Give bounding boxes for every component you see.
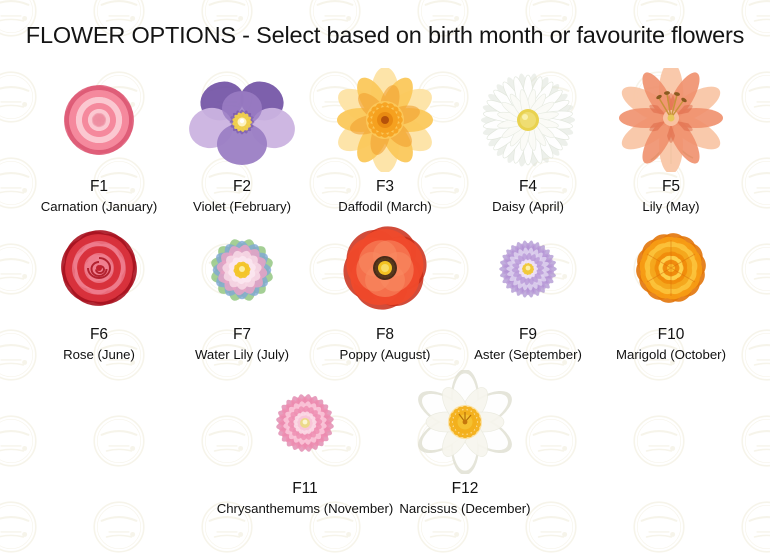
flower-code-label: F11 — [292, 480, 318, 498]
flower-name-label: Rose (June) — [63, 347, 135, 362]
flower-code-label: F2 — [233, 178, 251, 196]
flower-name-label: Chrysanthemums (November) — [217, 501, 394, 516]
violet-pansy-flower-icon — [182, 66, 302, 174]
flower-name-label: Aster (September) — [474, 347, 582, 362]
flower-code-label: F7 — [233, 326, 251, 344]
water-lily-flower-icon — [182, 214, 302, 322]
carnation-flower-icon — [39, 66, 159, 174]
daffodil-flower-icon — [325, 66, 445, 174]
lily-flower-icon — [611, 66, 731, 174]
marigold-flower-icon — [611, 214, 731, 322]
flower-option-f3[interactable]: F3Daffodil (March) — [314, 66, 457, 214]
flower-option-f2[interactable]: F2Violet (February) — [171, 66, 314, 214]
narcissus-flower-icon — [405, 368, 525, 476]
flower-name-label: Daisy (April) — [492, 199, 564, 214]
flower-name-label: Poppy (August) — [340, 347, 431, 362]
flower-row: F6Rose (June) — [0, 214, 770, 362]
aster-flower-icon — [468, 214, 588, 322]
flower-code-label: F4 — [519, 178, 537, 196]
flower-code-label: F10 — [658, 326, 685, 344]
flower-option-f4[interactable]: F4Daisy (April) — [457, 66, 600, 214]
flower-code-label: F12 — [452, 480, 479, 498]
flower-option-f5[interactable]: F5Lily (May) — [600, 66, 743, 214]
flower-option-f8[interactable]: F8Poppy (August) — [314, 214, 457, 362]
flower-code-label: F3 — [376, 178, 394, 196]
flower-options-grid: F1Carnation (January) — [0, 66, 770, 516]
flower-code-label: F1 — [90, 178, 108, 196]
flower-name-label: Carnation (January) — [41, 199, 158, 214]
flower-code-label: F6 — [90, 326, 108, 344]
flower-option-f6[interactable]: F6Rose (June) — [28, 214, 171, 362]
flower-option-f9[interactable]: F9Aster (September) — [457, 214, 600, 362]
flower-option-f1[interactable]: F1Carnation (January) — [28, 66, 171, 214]
daisy-flower-icon — [468, 66, 588, 174]
flower-name-label: Lily (May) — [642, 199, 699, 214]
flower-option-f12[interactable]: F12Narcissus (December) — [385, 368, 545, 516]
flower-option-f7[interactable]: F7Water Lily (July) — [171, 214, 314, 362]
flower-option-f10[interactable]: F10Marigold (October) — [600, 214, 743, 362]
flower-row: F1Carnation (January) — [0, 66, 770, 214]
flower-name-label: Violet (February) — [193, 199, 291, 214]
chrysanthemum-flower-icon — [245, 368, 365, 476]
page-title: FLOWER OPTIONS - Select based on birth m… — [0, 22, 770, 49]
flower-name-label: Narcissus (December) — [399, 501, 530, 516]
poppy-flower-icon — [325, 214, 445, 322]
flower-name-label: Water Lily (July) — [195, 347, 289, 362]
flower-name-label: Daffodil (March) — [338, 199, 432, 214]
flower-code-label: F5 — [662, 178, 680, 196]
flower-code-label: F9 — [519, 326, 537, 344]
rose-flower-icon — [39, 214, 159, 322]
flower-row: F11Chrysanthemums (November) — [0, 368, 770, 516]
flower-code-label: F8 — [376, 326, 394, 344]
flower-option-f11[interactable]: F11Chrysanthemums (November) — [225, 368, 385, 516]
flower-name-label: Marigold (October) — [616, 347, 726, 362]
